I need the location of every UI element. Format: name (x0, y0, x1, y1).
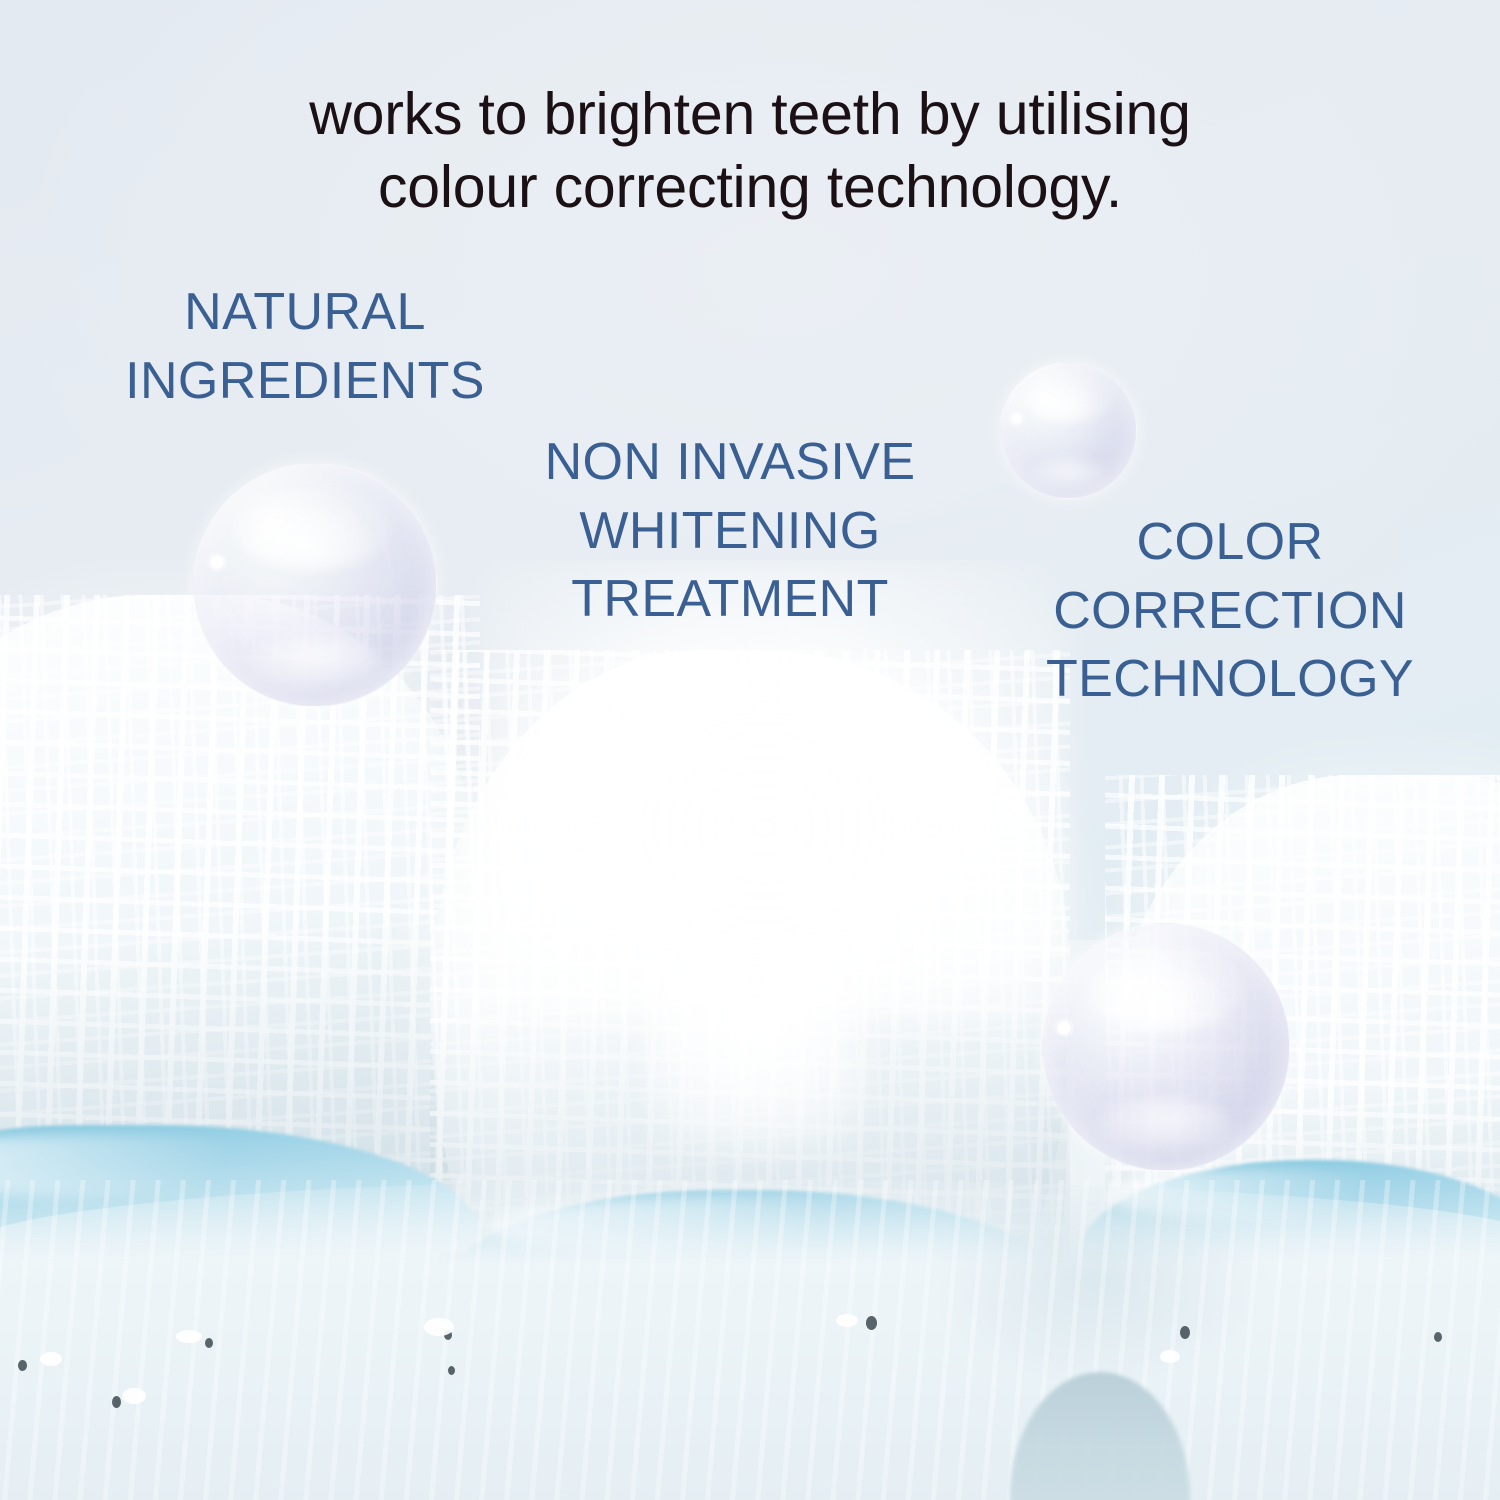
bubble-large-lower-right (1042, 923, 1290, 1171)
bubble-large-left (193, 463, 437, 707)
gel-speck (836, 1314, 858, 1327)
bubble-lower-sheen (1031, 459, 1107, 489)
gel-speck (122, 1388, 146, 1404)
product-feature-graphic: works to brighten teeth by utilising col… (0, 0, 1500, 1500)
gel-speck (40, 1352, 62, 1366)
gel-speck (1434, 1332, 1442, 1342)
bubble-sheen (1023, 374, 1112, 423)
foreground-gel-sheet (0, 1180, 1500, 1500)
feature-label-non-invasive-whitening-treatment: NON INVASIVE WHITENING TREATMENT (450, 428, 1010, 634)
bubble-sheen (1082, 944, 1244, 1033)
bubble-highlight-dot (1058, 1022, 1070, 1034)
gel-speck (1160, 1350, 1180, 1363)
bubble-sheen (233, 483, 393, 570)
feature-label-natural-ingredients: NATURAL INGREDIENTS (40, 278, 570, 415)
bubble-lower-sheen (247, 636, 383, 689)
gel-streaks (0, 1180, 1500, 1500)
gel-speck (205, 1338, 213, 1348)
gel-speck (866, 1316, 877, 1330)
bubble-highlight-dot (211, 556, 223, 568)
bubble-small-right (1000, 362, 1137, 499)
gel-speck (18, 1360, 27, 1371)
gel-speck (448, 1366, 455, 1375)
gel-speck (176, 1330, 202, 1343)
whitening-glow-core (648, 902, 866, 1154)
feature-label-color-correction-technology: COLOR CORRECTION TECHNOLOGY (960, 508, 1500, 714)
headline-text: works to brighten teeth by utilising col… (0, 78, 1500, 223)
gel-speck (1180, 1326, 1190, 1339)
gel-speck (112, 1396, 121, 1408)
bubble-lower-sheen (1097, 1099, 1235, 1153)
gel-speck (424, 1318, 454, 1336)
bubble-highlight-dot (1012, 414, 1021, 423)
